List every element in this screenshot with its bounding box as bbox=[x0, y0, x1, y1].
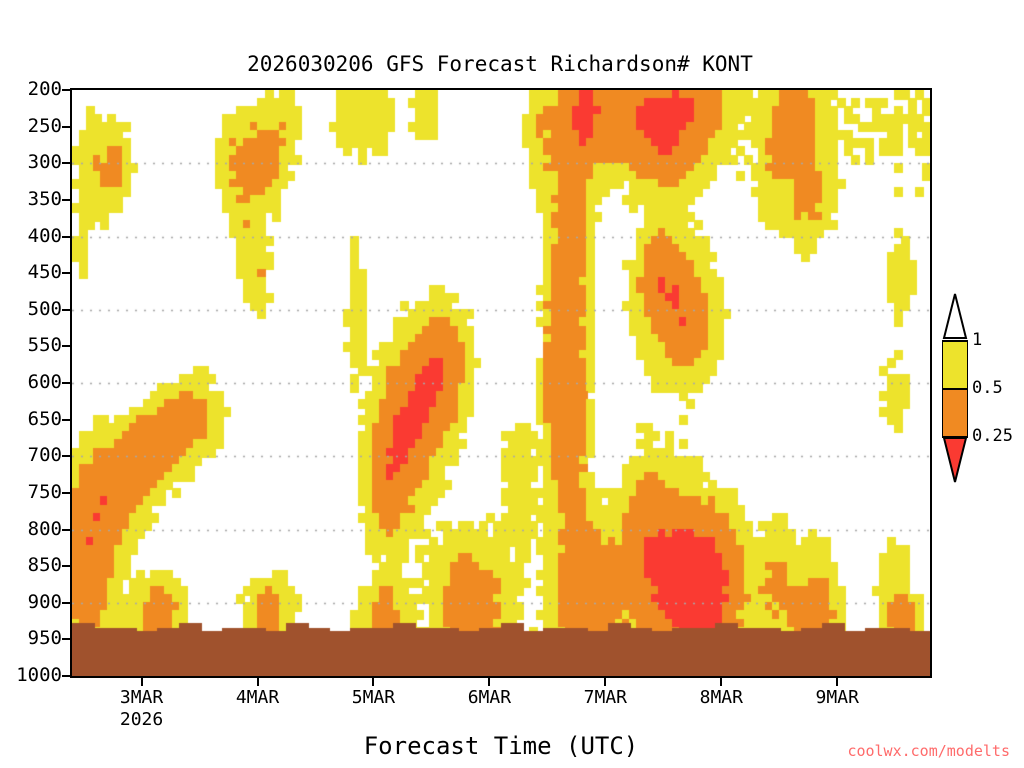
legend-tick-025-line bbox=[942, 436, 968, 438]
x-tick-label: 4MAR bbox=[236, 688, 279, 708]
legend-tick-1-line bbox=[942, 340, 968, 342]
legend-tick-1-label: 1 bbox=[972, 332, 982, 349]
legend-band-orange bbox=[942, 388, 968, 436]
legend-tick-025-label: 0.25 bbox=[972, 428, 1013, 445]
x-tick-label: 7MAR bbox=[584, 688, 627, 708]
x-tick-label: 5MAR bbox=[352, 688, 395, 708]
x-tick-mark bbox=[372, 678, 374, 686]
legend-tick-05-label: 0.5 bbox=[972, 380, 1003, 397]
x-tick-mark bbox=[836, 678, 838, 686]
x-tick-mark bbox=[141, 678, 143, 686]
x-tick-mark bbox=[720, 678, 722, 686]
legend-arrow-up bbox=[942, 292, 968, 340]
chart-root: 2026030206 GFS Forecast Richardson# KONT… bbox=[0, 0, 1024, 768]
x-tick-mark bbox=[488, 678, 490, 686]
richardson-heatmap bbox=[72, 90, 930, 676]
x-tick-year-label: 2026 bbox=[120, 710, 163, 730]
x-tick-label: 9MAR bbox=[816, 688, 859, 708]
watermark: coolwx.com/modelts bbox=[847, 742, 1010, 760]
x-tick-label: 8MAR bbox=[700, 688, 743, 708]
legend-tick-05-line bbox=[942, 388, 968, 390]
legend-arrow-down bbox=[942, 436, 968, 484]
legend-band-yellow bbox=[942, 340, 968, 388]
x-tick-mark bbox=[604, 678, 606, 686]
x-tick-label: 3MAR bbox=[120, 688, 163, 708]
legend-colorbar: 10.50.25 bbox=[942, 292, 968, 468]
x-tick-mark bbox=[257, 678, 259, 686]
x-tick-label: 6MAR bbox=[468, 688, 511, 708]
x-axis-title: Forecast Time (UTC) bbox=[70, 732, 932, 760]
plot-area bbox=[70, 88, 932, 678]
